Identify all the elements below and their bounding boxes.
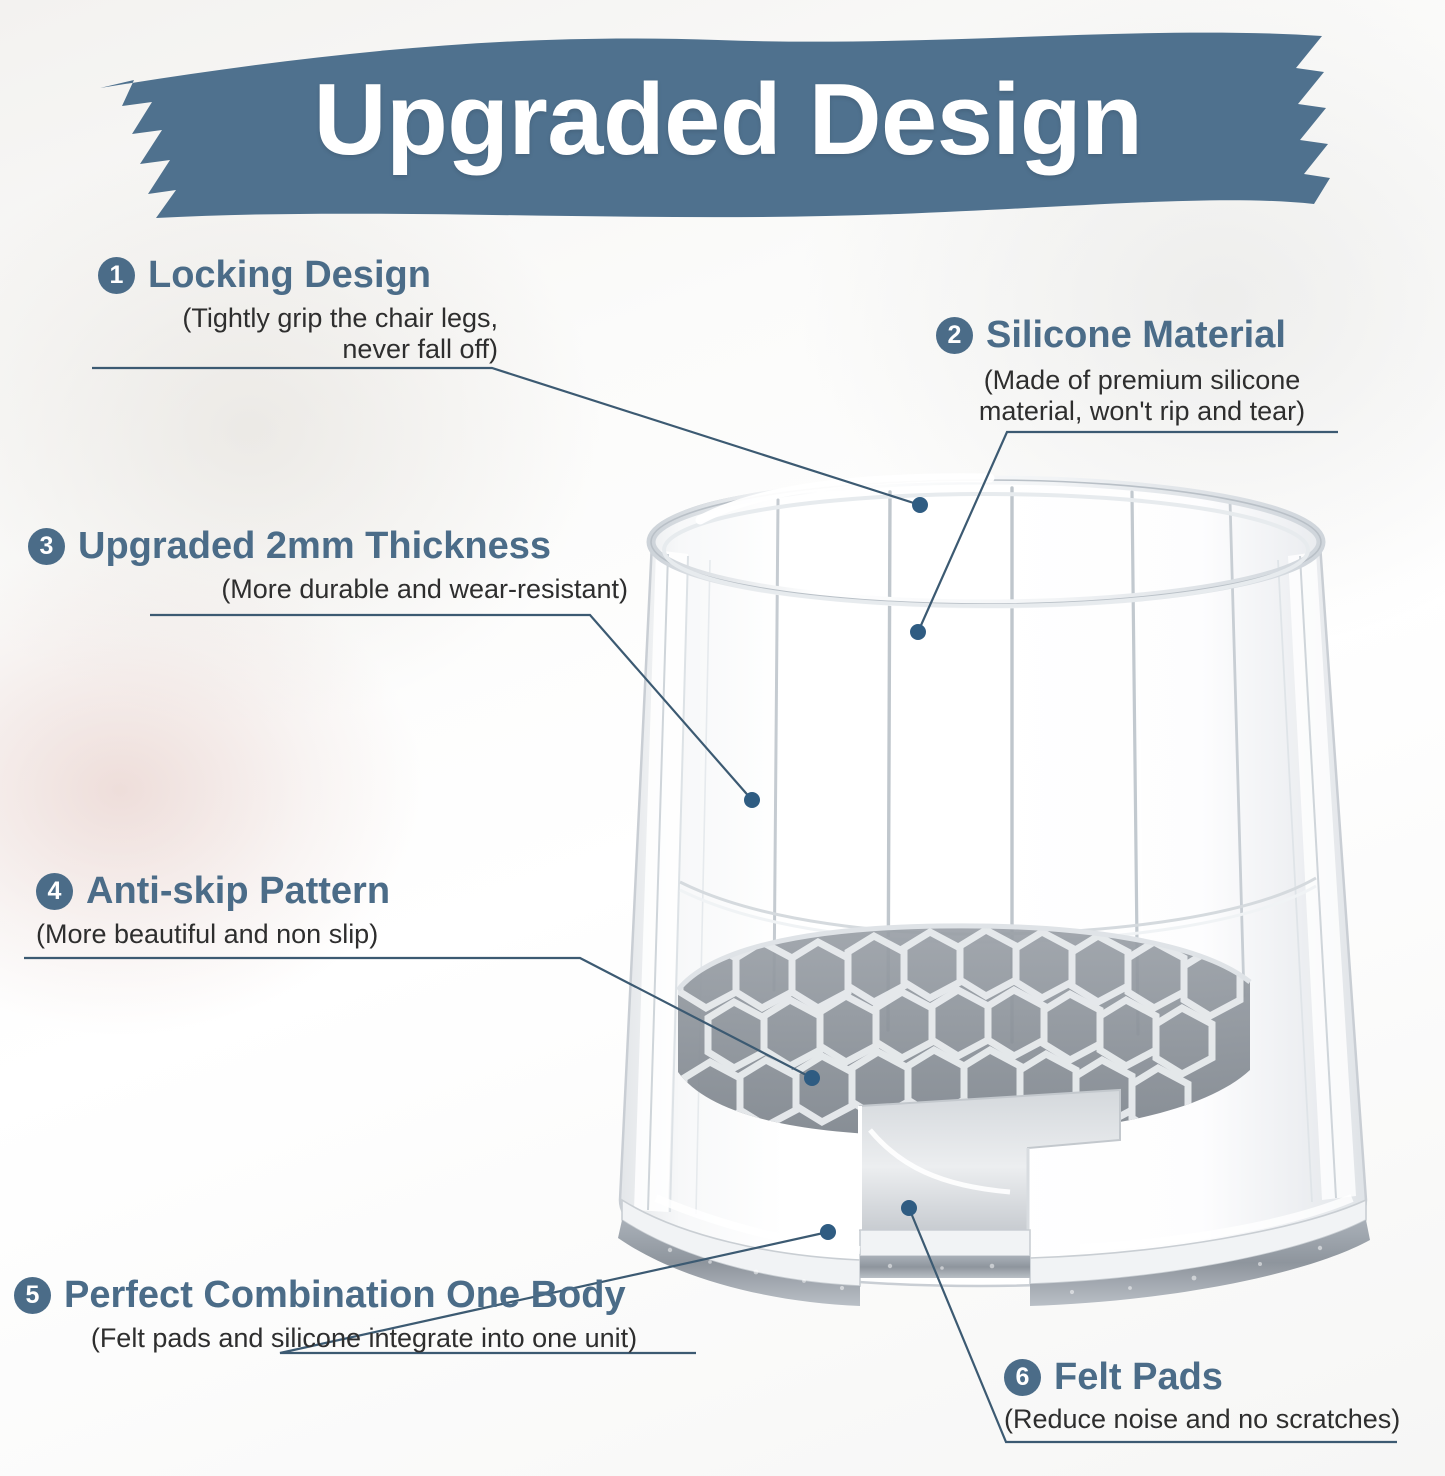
infographic-canvas: Upgraded Design <box>0 0 1445 1476</box>
feature-callout-4: 4 Anti-skip Pattern (More beautiful and … <box>36 872 486 950</box>
feature-heading-5: 5 Perfect Combination One Body <box>14 1276 714 1316</box>
product-illustration <box>560 430 1440 1370</box>
page-title: Upgraded Design <box>78 18 1378 230</box>
product-image-silicone-chair-leg-cover <box>560 430 1440 1370</box>
feature-number-badge-3: 3 <box>28 528 65 565</box>
feature-heading-2: 2 Silicone Material <box>936 316 1348 356</box>
feature-title-3: Upgraded 2mm Thickness <box>78 527 551 567</box>
feature-number-badge-2: 2 <box>936 317 973 354</box>
feature-subtitle-5: (Felt pads and silicone integrate into o… <box>14 1323 714 1354</box>
banner-ribbon: Upgraded Design <box>78 18 1378 230</box>
feature-heading-6: 6 Felt Pads <box>1004 1358 1414 1398</box>
feature-callout-5: 5 Perfect Combination One Body (Felt pad… <box>14 1276 714 1354</box>
feature-heading-4: 4 Anti-skip Pattern <box>36 872 486 912</box>
feature-subtitle-6: (Reduce noise and no scratches) <box>1004 1404 1414 1435</box>
feature-number-badge-5: 5 <box>14 1277 51 1314</box>
feature-title-4: Anti-skip Pattern <box>86 872 390 912</box>
feature-callout-2: 2 Silicone Material (Made of premium sil… <box>936 316 1348 428</box>
feature-title-1: Locking Design <box>148 256 431 296</box>
feature-heading-3: 3 Upgraded 2mm Thickness <box>28 527 628 567</box>
feature-number-badge-6: 6 <box>1004 1359 1041 1396</box>
feature-subtitle-2: (Made of premium silicone material, won'… <box>936 365 1348 428</box>
feature-title-5: Perfect Combination One Body <box>64 1276 626 1316</box>
feature-subtitle-1: (Tightly grip the chair legs, never fall… <box>98 303 498 366</box>
feature-callout-3: 3 Upgraded 2mm Thickness (More durable a… <box>28 527 628 605</box>
feature-number-badge-1: 1 <box>98 257 135 294</box>
feature-title-6: Felt Pads <box>1054 1358 1223 1398</box>
feature-number-badge-4: 4 <box>36 873 73 910</box>
feature-heading-1: 1 Locking Design <box>98 256 498 296</box>
feature-subtitle-3: (More durable and wear-resistant) <box>28 574 628 605</box>
feature-subtitle-4: (More beautiful and non slip) <box>36 919 486 950</box>
feature-title-2: Silicone Material <box>986 316 1286 356</box>
feature-callout-1: 1 Locking Design (Tightly grip the chair… <box>98 256 498 366</box>
feature-callout-6: 6 Felt Pads (Reduce noise and no scratch… <box>1004 1358 1414 1435</box>
